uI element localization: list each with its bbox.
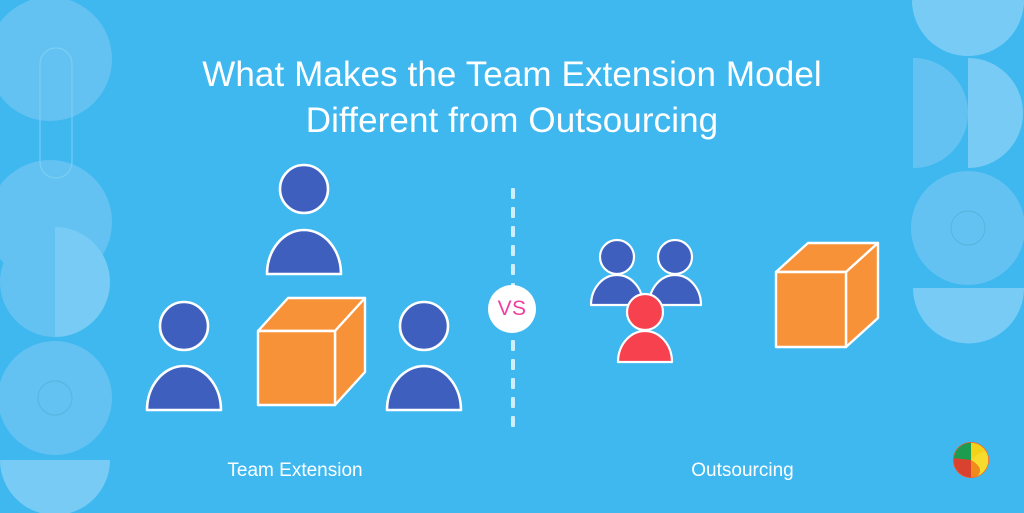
caption-outsourcing: Outsourcing [610,460,875,482]
cube-icon [776,243,878,347]
page-title-line-1: What Makes the Team Extension Model [0,52,1024,98]
brand-logo[interactable] [951,440,991,480]
divider-dash [511,207,515,218]
divider-dash [511,264,515,275]
page-title: What Makes the Team Extension Model Diff… [0,52,1024,144]
divider-dash [511,226,515,237]
divider-dash [511,340,515,351]
decor-ring-left [38,381,72,415]
caption-team-extension: Team Extension [150,460,440,482]
person-icon-top [267,165,341,274]
logo-segment-green [953,440,971,460]
divider-dash [511,378,515,389]
person-icon-back-right [649,240,701,305]
logo-segment-red [951,458,971,480]
outsourcing-illustration [580,230,900,380]
decor-halfdisc-right-e [913,288,1024,344]
vs-badge-label: VS [498,297,527,321]
decor-circle-right-mid [911,171,1024,285]
vs-badge: VS [488,285,536,333]
divider-dash [511,397,515,408]
decor-ring-right [951,211,985,245]
decor-circle-right-top [912,0,1024,56]
divider-dash [511,188,515,199]
page-title-line-2: Different from Outsourcing [0,98,1024,144]
divider-dash [511,359,515,370]
decor-circle-left-3 [0,341,112,455]
divider-dash [511,416,515,427]
decor-halfdisc-left-b [55,227,110,337]
decor-halfdisc-left-a [0,227,55,337]
divider-dash [511,245,515,256]
decor-circle-left-2 [0,160,112,284]
team-extension-illustration [130,160,480,420]
slide-canvas: What Makes the Team Extension Model Diff… [0,0,1024,513]
person-icon-right [387,302,461,410]
decor-halfdisc-right-a [912,0,1024,56]
cube-shape [258,298,365,405]
decor-halfdisc-left-c [0,460,110,513]
person-icon-back-left [591,240,643,305]
person-icon-left [147,302,221,410]
